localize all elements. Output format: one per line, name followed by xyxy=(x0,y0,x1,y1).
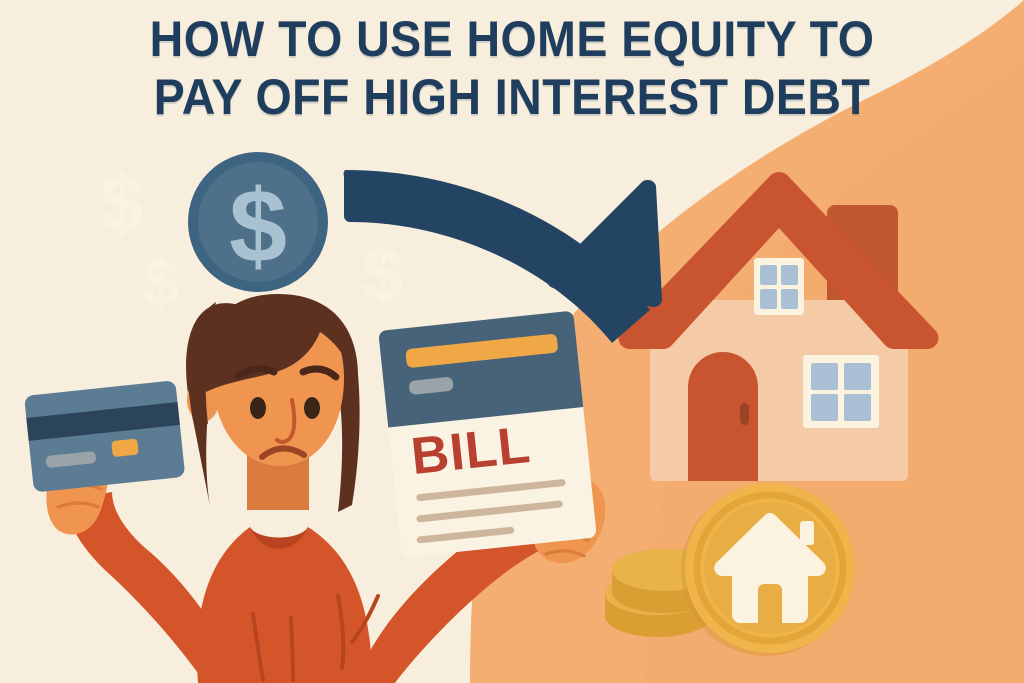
credit-card-chip xyxy=(111,438,139,457)
eye-left xyxy=(250,397,266,419)
dollar-coin: $ xyxy=(188,152,328,292)
dollar-sign-icon: $ xyxy=(143,245,180,319)
house-door-knob xyxy=(740,403,749,425)
bill-header-band xyxy=(378,311,583,428)
house-window-upper xyxy=(754,258,804,315)
eye-right xyxy=(304,397,320,419)
dollar-sign-icon: $ xyxy=(362,233,403,316)
house-window-lower xyxy=(803,355,879,428)
poster-canvas: $ $ $ xyxy=(0,0,1024,683)
credit-card xyxy=(24,380,185,492)
dollar-sign-icon: $ xyxy=(229,169,287,285)
bill-document: BILL xyxy=(378,311,597,558)
illustration: $ $ $ xyxy=(0,0,1024,683)
bill-heading: BILL xyxy=(408,416,533,486)
dollar-sign-icon: $ xyxy=(100,159,143,247)
